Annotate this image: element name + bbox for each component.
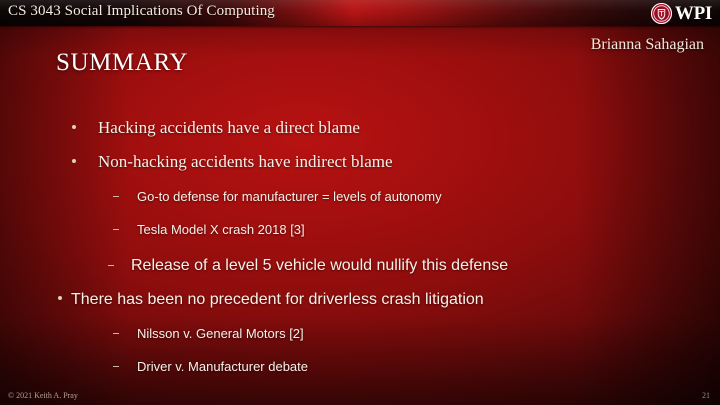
wpi-seal-icon: [651, 3, 672, 24]
bullet-dash-icon: [113, 222, 119, 237]
wpi-logo: WPI: [651, 1, 712, 25]
bullet-item: Nilsson v. General Motors [2]: [113, 326, 304, 341]
bullet-dot-icon: [72, 118, 76, 138]
bullet-dash-icon: [113, 326, 119, 341]
bullet-text: Hacking accidents have a direct blame: [98, 118, 360, 138]
bullet-dash-icon: [113, 359, 119, 374]
bullet-item: Non-hacking accidents have indirect blam…: [72, 152, 393, 172]
author-name: Brianna Sahagian: [591, 36, 704, 54]
bullet-dot-shape: [72, 159, 76, 163]
footer-copyright: © 2021 Keith A. Pray: [8, 391, 78, 400]
bullet-item: Release of a level 5 vehicle would nulli…: [108, 257, 508, 275]
bullet-dot-shape: [72, 125, 76, 129]
bullet-dash-shape: [113, 366, 119, 368]
slide-header-bar: CS 3043 Social Implications Of Computing…: [0, 0, 720, 26]
bullet-item: Go-to defense for manufacturer = levels …: [113, 189, 442, 204]
wpi-wordmark: WPI: [675, 4, 712, 23]
bullet-dot-shape: [58, 296, 62, 300]
bullet-text: Go-to defense for manufacturer = levels …: [137, 189, 442, 204]
bullet-dash-shape: [113, 229, 119, 231]
bullet-dash-shape: [113, 333, 119, 335]
bullet-dash-shape: [108, 265, 114, 267]
presentation-slide: CS 3043 Social Implications Of Computing…: [0, 0, 720, 405]
bullet-dot-icon: [72, 152, 76, 172]
bullet-item: Hacking accidents have a direct blame: [72, 118, 360, 138]
bullet-text: Non-hacking accidents have indirect blam…: [98, 152, 393, 172]
bullet-item: Tesla Model X crash 2018 [3]: [113, 222, 305, 237]
bullet-text: Release of a level 5 vehicle would nulli…: [131, 257, 508, 275]
course-title: CS 3043 Social Implications Of Computing: [8, 3, 275, 20]
bullet-item: Driver v. Manufacturer debate: [113, 359, 308, 374]
bullet-text: Tesla Model X crash 2018 [3]: [137, 222, 305, 237]
bullet-text: There has been no precedent for driverle…: [71, 291, 484, 309]
bullet-dash-shape: [113, 196, 119, 198]
slide-title: SUMMARY: [56, 49, 188, 77]
bullet-dash-icon: [108, 257, 114, 275]
bullet-text: Driver v. Manufacturer debate: [137, 359, 308, 374]
bullet-text: Nilsson v. General Motors [2]: [137, 326, 304, 341]
footer-page-number: 21: [702, 391, 710, 400]
bullet-item: There has been no precedent for driverle…: [58, 291, 484, 309]
bullet-dash-icon: [113, 189, 119, 204]
bullet-dot-icon: [58, 291, 62, 309]
